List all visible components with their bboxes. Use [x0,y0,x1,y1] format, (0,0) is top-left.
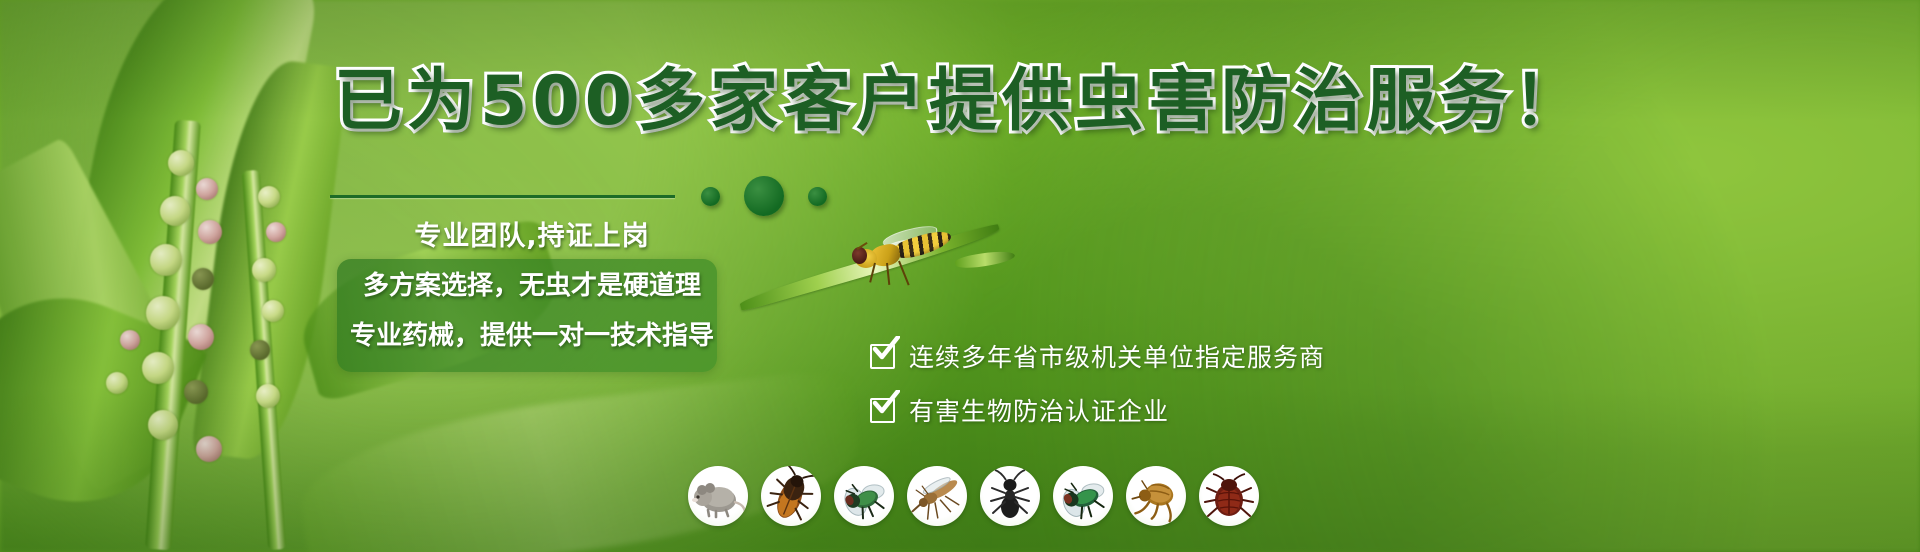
divider-dot-small-right [808,187,827,206]
divider-dot-small-left [701,187,720,206]
bedbug-icon[interactable] [1199,466,1259,526]
divider-rule [330,195,675,198]
feature-line-2: 多方案选择，无虫才是硬道理 [337,261,727,311]
checklist-item: 有害生物防治认证企业 [870,392,1325,428]
hoverfly-icon [848,227,958,287]
mouse-icon[interactable] [688,466,748,526]
banner-headline-text: 已为500多家客户提供虫害防治服务！ [334,62,1586,141]
pest-control-promo-banner: 已为500多家客户提供虫害防治服务！ 专业团队,持证上岗 多方案选择，无虫才是硬… [0,0,1920,552]
mosquito-icon[interactable] [907,466,967,526]
feature-line-1: 专业团队,持证上岗 [337,213,727,261]
housefly-icon[interactable] [834,466,894,526]
flea-icon[interactable] [1126,466,1186,526]
grass-blade-tip [954,248,1015,270]
blowfly-icon[interactable] [1053,466,1113,526]
checklist-item-label: 有害生物防治认证企业 [909,392,1169,428]
cockroach-icon[interactable] [761,466,821,526]
decorative-divider [330,176,990,216]
pest-icon-row [688,466,1259,526]
checklist-item-label: 连续多年省市级机关单位指定服务商 [909,338,1325,374]
banner-headline: 已为500多家客户提供虫害防治服务！ [0,66,1920,137]
checklist-item: 连续多年省市级机关单位指定服务商 [870,338,1325,374]
ant-icon[interactable] [980,466,1040,526]
checkbox-checked-icon [870,398,895,423]
feature-text-block: 专业团队,持证上岗 多方案选择，无虫才是硬道理 专业药械，提供一对一技术指导 [337,213,727,361]
checkbox-checked-icon [870,344,895,369]
divider-dot-large [744,176,784,216]
certification-checklist: 连续多年省市级机关单位指定服务商 有害生物防治认证企业 [870,338,1325,428]
feature-line-3: 专业药械，提供一对一技术指导 [337,311,727,361]
